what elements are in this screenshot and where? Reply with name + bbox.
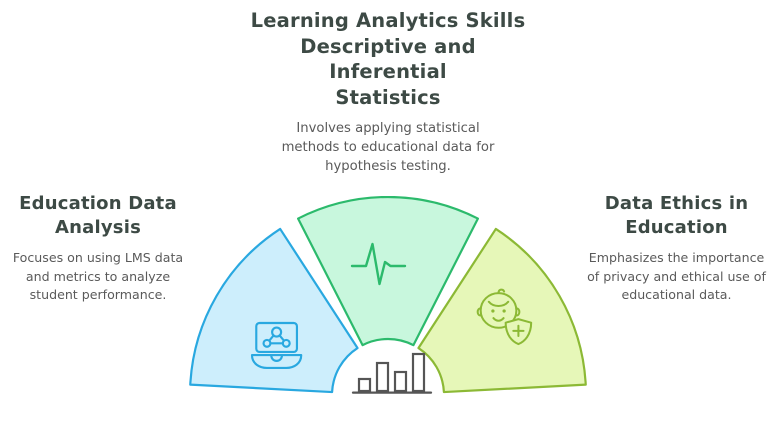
right-title-line-1: Data Ethics in xyxy=(580,192,773,216)
semicircle-gauge xyxy=(176,196,600,408)
left-title: Education Data Analysis xyxy=(2,192,194,240)
right-title: Data Ethics in Education xyxy=(580,192,773,240)
left-description: Focuses on using LMS data and metrics to… xyxy=(2,249,194,305)
right-description: Emphasizes the importance of privacy and… xyxy=(580,249,773,305)
right-text-block: Data Ethics in Education Emphasizes the … xyxy=(580,192,773,305)
right-title-line-2: Education xyxy=(580,216,773,240)
center-title-line-4: Statistics xyxy=(236,85,540,111)
center-text-block: Learning Analytics Skills Descriptive an… xyxy=(236,8,540,176)
center-description: Involves applying statistical methods to… xyxy=(236,119,540,176)
left-title-line-1: Education Data xyxy=(2,192,194,216)
center-title-line-2: Descriptive and xyxy=(236,34,540,60)
bar-chart-icon xyxy=(353,354,431,393)
center-title-line-3: Inferential xyxy=(236,59,540,85)
left-text-block: Education Data Analysis Focuses on using… xyxy=(2,192,194,305)
center-title: Learning Analytics Skills Descriptive an… xyxy=(236,8,540,110)
infographic-canvas: Learning Analytics Skills Descriptive an… xyxy=(0,0,775,433)
left-title-line-2: Analysis xyxy=(2,216,194,240)
center-title-line-1: Learning Analytics Skills xyxy=(236,8,540,34)
